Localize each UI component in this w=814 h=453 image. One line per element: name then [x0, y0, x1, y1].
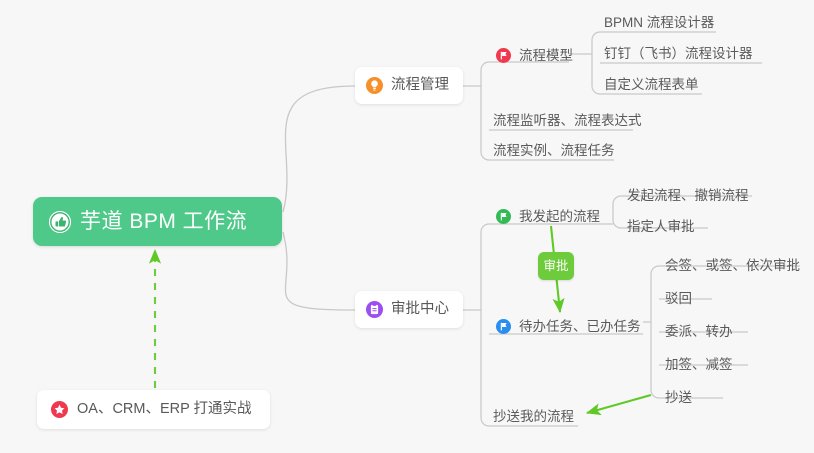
node-my-initiated-label: 我发起的流程 [519, 210, 600, 224]
flag-icon-blue [495, 318, 512, 335]
wire-root-to-flow-management [283, 86, 355, 212]
node-flow-model[interactable]: 流程模型 [495, 47, 573, 64]
note-card-label: OA、CRM、ERP 打通实战 [77, 402, 252, 417]
lightbulb-icon [366, 77, 383, 94]
branch-approval-center[interactable]: 审批中心 [355, 291, 463, 328]
node-todo-done-label: 待办任务、已办任务 [519, 320, 641, 334]
root-node-label: 芋道 BPM 工作流 [80, 211, 247, 232]
clipboard-icon [366, 301, 383, 318]
leaf-delegate-transfer[interactable]: 委派、转办 [665, 325, 733, 339]
leaf-cc-to-me[interactable]: 抄送我的流程 [493, 410, 574, 424]
flag-icon-green [495, 208, 512, 225]
leaf-custom-form[interactable]: 自定义流程表单 [604, 78, 699, 92]
approval-badge[interactable]: 审批 [538, 252, 574, 280]
node-todo-done[interactable]: 待办任务、已办任务 [495, 318, 641, 335]
arrow-cc-to-my-flow [587, 395, 651, 413]
leaf-dingtalk-designer[interactable]: 钉钉（飞书）流程设计器 [604, 47, 753, 61]
wire-flow-management-trunk [481, 62, 489, 160]
leaf-add-remove-sign[interactable]: 加签、减签 [665, 358, 733, 372]
wire-todo-done-trunk [651, 266, 659, 398]
node-flow-model-label: 流程模型 [519, 49, 573, 63]
mindmap-canvas: 芋道 BPM 工作流 OA、CRM、ERP 打通实战 流程管理 [0, 0, 814, 453]
branch-flow-management-label: 流程管理 [391, 78, 449, 93]
note-card[interactable]: OA、CRM、ERP 打通实战 [37, 390, 270, 429]
flag-icon-red [495, 47, 512, 64]
star-icon [51, 401, 68, 418]
wire-root-to-approval-center [283, 232, 355, 310]
leaf-flow-listener[interactable]: 流程监听器、流程表达式 [493, 114, 642, 128]
branch-approval-center-label: 审批中心 [391, 302, 449, 317]
leaf-flow-instance[interactable]: 流程实例、流程任务 [493, 144, 615, 158]
node-my-initiated[interactable]: 我发起的流程 [495, 208, 600, 225]
wire-my-initiated-trunk [613, 196, 621, 228]
leaf-cc[interactable]: 抄送 [665, 391, 692, 405]
thumbs-up-icon [49, 211, 71, 233]
wire-approval-center-trunk [481, 224, 489, 426]
leaf-reject[interactable]: 驳回 [665, 292, 692, 306]
leaf-start-cancel-flow[interactable]: 发起流程、撤销流程 [627, 189, 749, 203]
branch-flow-management[interactable]: 流程管理 [355, 67, 463, 104]
wire-flow-model-trunk [592, 32, 600, 94]
root-node[interactable]: 芋道 BPM 工作流 [33, 197, 282, 246]
leaf-countersign[interactable]: 会签、或签、依次审批 [665, 259, 800, 273]
leaf-assignee-approve[interactable]: 指定人审批 [627, 220, 695, 234]
leaf-bpmn-designer[interactable]: BPMN 流程设计器 [604, 16, 714, 30]
approval-badge-label: 审批 [543, 260, 568, 273]
